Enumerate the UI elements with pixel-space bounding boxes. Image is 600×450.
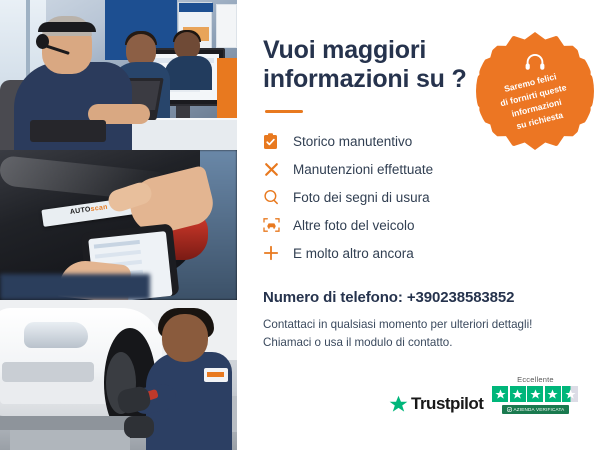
phone-number[interactable]: Numero di telefono: +390238583852 <box>263 289 578 306</box>
feature-label: Foto dei segni di usura <box>289 190 430 205</box>
callout-badge: Saremo felici di fornirti queste informa… <box>476 32 594 150</box>
trustpilot-logo: Trustpilot <box>389 394 483 414</box>
colleague-far-body <box>164 56 212 90</box>
contact-subtext-line-1: Contattaci in qualsiasi momento per ulte… <box>263 318 532 331</box>
plus-icon <box>263 243 289 263</box>
clipboard-check-icon <box>263 131 289 151</box>
car-headlight <box>24 322 88 348</box>
photo-column: AUTOscan <box>0 0 237 450</box>
verified-company-label: AZIENDA VERIFICATA <box>514 407 565 412</box>
verified-check-icon <box>507 407 512 412</box>
feature-label: E molto altro ancora <box>289 246 414 261</box>
call-center-agents-photo <box>0 0 237 150</box>
magnifier-icon <box>263 187 289 207</box>
trustpilot-rating: Eccellente <box>492 375 578 414</box>
feature-item-maintenance-done: Manutenzioni effettuate <box>263 155 578 183</box>
mechanic-glove-lower <box>124 416 154 438</box>
car-bumper <box>0 382 120 404</box>
feature-item-more-photos: Altre foto del veicolo <box>263 211 578 239</box>
feature-label: Manutenzioni effettuate <box>289 162 433 177</box>
headline-line-1: Vuoi maggiori <box>263 36 426 64</box>
verified-company-badge: AZIENDA VERIFICATA <box>502 405 570 414</box>
star-3 <box>527 386 543 402</box>
star-2 <box>510 386 526 402</box>
autoscan-strip-label: AUTOscan <box>70 204 109 216</box>
contact-subtext-line-2: Chiamaci o usa il modulo di contatto. <box>263 336 452 349</box>
trustpilot-wordmark: Trustpilot <box>411 394 483 414</box>
advertisement-banner: AUTOscan <box>0 0 600 450</box>
trustpilot-stars <box>492 386 578 402</box>
mechanic-head <box>162 314 208 362</box>
title-divider <box>265 110 303 113</box>
feature-item-more: E molto altro ancora <box>263 239 578 267</box>
crossed-tools-icon <box>263 159 289 179</box>
monitor-stand <box>176 106 190 118</box>
vehicle-diagnostic-photo: AUTOscan <box>0 150 237 300</box>
content-panel: Vuoi maggiori informazioni su ? Storico … <box>237 0 600 450</box>
trustpilot-star-icon <box>389 395 408 414</box>
star-1 <box>492 386 508 402</box>
feature-label: Altre foto del veicolo <box>289 218 415 233</box>
headline-line-2: informazioni su ? <box>263 65 467 93</box>
photo-frame-car-icon <box>263 215 289 235</box>
wall-poster-secondary <box>216 4 237 48</box>
trustpilot-rating-label: Eccellente <box>517 375 554 384</box>
agent-headset-band <box>38 22 96 32</box>
car-grille <box>2 362 94 382</box>
desk-tablet <box>30 120 106 142</box>
star-5-half <box>562 386 578 402</box>
mechanic-logo-badge <box>204 368 228 382</box>
contact-subtext: Contattaci in qualsiasi momento per ulte… <box>263 316 578 352</box>
feature-label: Storico manutentivo <box>289 134 412 149</box>
foreground-shadow <box>0 274 150 300</box>
vehicle-lift-base <box>10 430 130 450</box>
trustpilot-widget[interactable]: Trustpilot Eccellente <box>389 375 578 414</box>
star-4 <box>545 386 561 402</box>
tyre-service-photo <box>0 300 237 450</box>
feature-item-wear-photos: Foto dei segni di usura <box>263 183 578 211</box>
